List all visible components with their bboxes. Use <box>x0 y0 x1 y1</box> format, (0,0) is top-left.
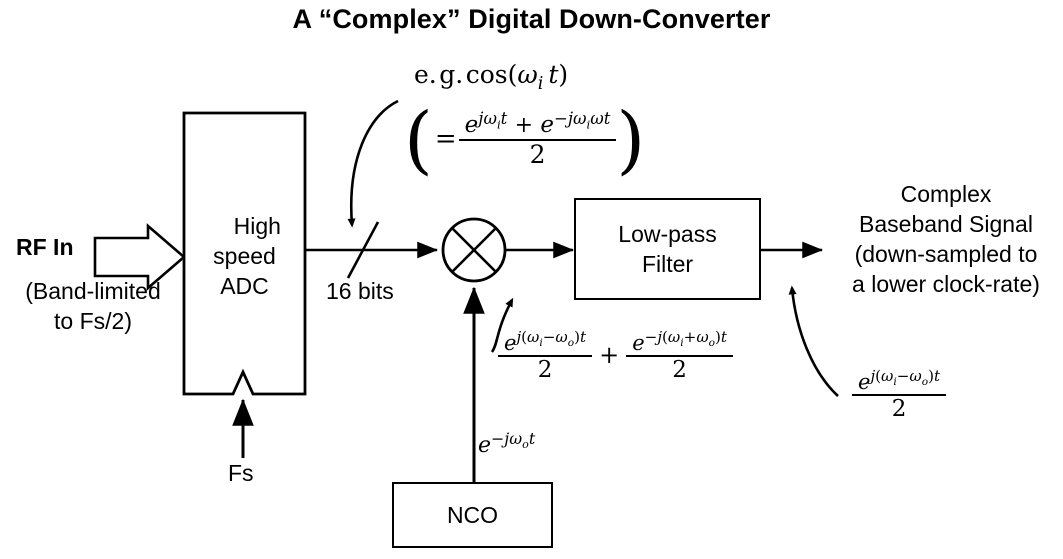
filter-output-expression: ej(ωi−ωo)t 2 <box>852 371 946 421</box>
diagram-canvas: A “Complex” Digital Down-Converter <box>0 0 1063 559</box>
mixer-output-expression: ej(ωi−ωo)t 2 + e−j(ωi+ωo)t 2 <box>498 332 733 382</box>
adc-to-mixer-wire <box>305 222 437 278</box>
output-description: Complex Baseband Signal (down-sampled to… <box>829 180 1063 300</box>
lo-example-pointer-arrow <box>351 101 398 225</box>
adc-label-text: High speed ADC <box>213 213 281 299</box>
nco-label: NCO <box>447 500 498 530</box>
lo-example-label: e. g. cos(ωi t) <box>414 62 568 88</box>
adc-block-label: High speed ADC <box>185 182 304 331</box>
rf-in-note: (Band-limited to Fs/2) <box>0 277 186 337</box>
lo-example-expression: (= ejωit + e−jωiωt 2 ) <box>404 111 645 170</box>
nco-block: NCO <box>392 482 553 548</box>
sample-clock-label: Fs <box>228 459 254 489</box>
low-pass-filter-label: Low-pass Filter <box>618 219 716 280</box>
nco-signal-label: e−jωot <box>478 434 535 457</box>
mixer-multiplier-icon <box>443 219 505 281</box>
bus-width-label: 16 bits <box>326 277 394 307</box>
filter-output-pointer-arrow <box>792 288 838 396</box>
low-pass-filter-block: Low-pass Filter <box>574 198 761 300</box>
rf-in-label: RF In <box>16 233 74 263</box>
